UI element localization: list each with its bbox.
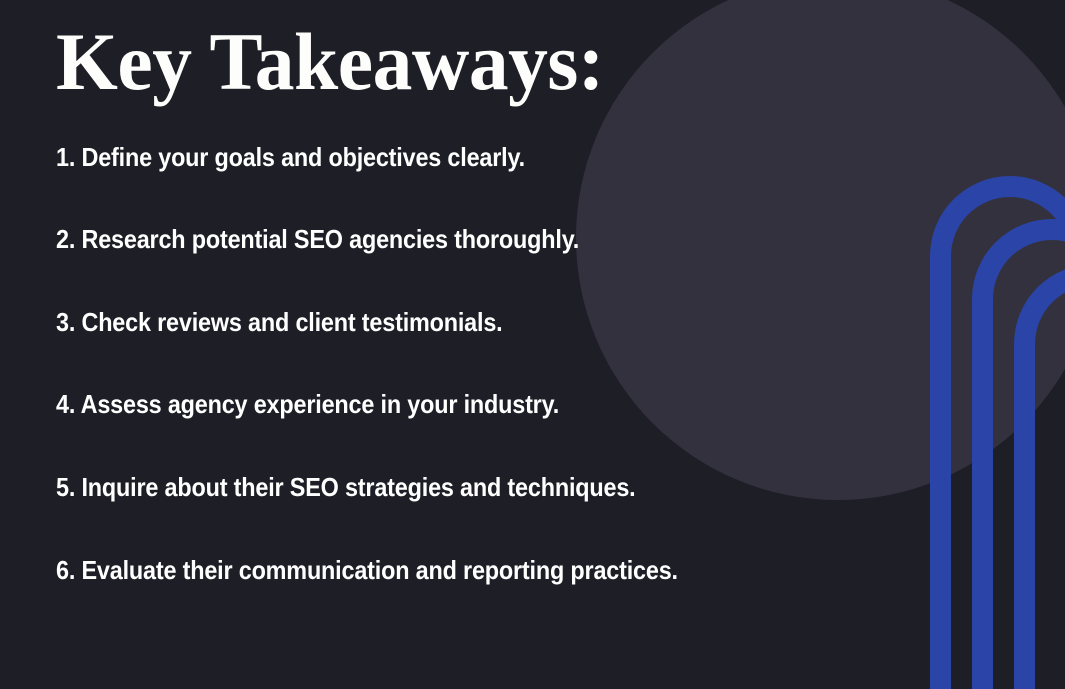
list-item: 3. Check reviews and client testimonials… (56, 308, 928, 337)
list-item: 1. Define your goals and objectives clea… (56, 143, 928, 172)
list-item: 6. Evaluate their communication and repo… (56, 556, 928, 585)
list-item: 4. Assess agency experience in your indu… (56, 390, 928, 419)
page-title: Key Takeaways: (56, 18, 996, 107)
list-item: 5. Inquire about their SEO strategies an… (56, 473, 928, 502)
key-takeaways-slide: Key Takeaways: 1. Define your goals and … (0, 0, 1065, 689)
takeaway-list: 1. Define your goals and objectives clea… (56, 143, 1025, 585)
list-item: 2. Research potential SEO agencies thoro… (56, 225, 928, 254)
slide-content: Key Takeaways: 1. Define your goals and … (0, 0, 1065, 584)
